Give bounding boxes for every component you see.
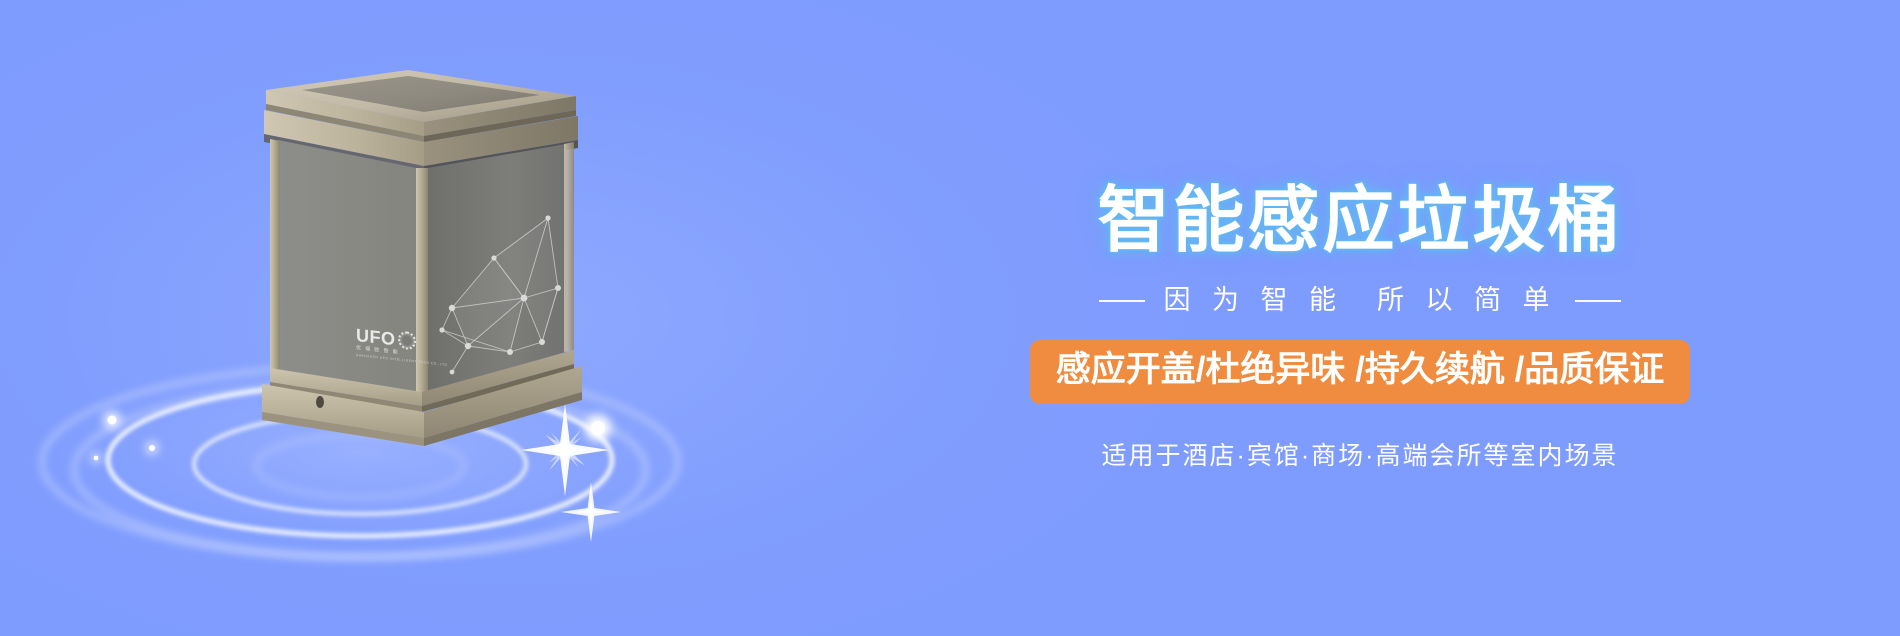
smart-trash-bin: UFO 优 福 欧 智 能 SHENZHEN UFO INTELLIGENT T… (256, 62, 586, 452)
product-stage: UFO 优 福 欧 智 能 SHENZHEN UFO INTELLIGENT T… (60, 0, 860, 636)
glow-dot-3-core (94, 456, 99, 461)
copy-block: 智能感应垃圾桶 因 为 智 能 所 以 简 单 感应开盖/杜绝异味 /持久续航 … (880, 0, 1840, 636)
glow-dot-4-core (591, 421, 605, 435)
bin-right-edge (564, 142, 574, 352)
trash-bin-illustration (256, 62, 586, 452)
bin-left-edge (270, 139, 280, 375)
subline-text: 因 为 智 能 所 以 简 单 (1163, 287, 1556, 314)
rule-right-icon (1575, 300, 1621, 302)
feature-text: 感应开盖/杜绝异味 /持久续航 /品质保证 (1056, 351, 1665, 390)
feature-bar: 感应开盖/杜绝异味 /持久续航 /品质保证 (1030, 340, 1691, 404)
glow-dot-2-core (149, 445, 155, 451)
bin-panel-left (278, 140, 416, 392)
rule-left-icon (1099, 300, 1145, 302)
glow-dot-1-core (108, 416, 117, 425)
scene-text: 适用于酒店·宾馆·商场·高端会所等室内场景 (1102, 444, 1619, 469)
headline: 智能感应垃圾桶 (1097, 185, 1622, 257)
product-banner: UFO 优 福 欧 智 能 SHENZHEN UFO INTELLIGENT T… (0, 0, 1900, 636)
bin-base-sensor (316, 396, 324, 408)
subline: 因 为 智 能 所 以 简 单 (1099, 287, 1620, 314)
bin-corner-edge (416, 168, 428, 392)
